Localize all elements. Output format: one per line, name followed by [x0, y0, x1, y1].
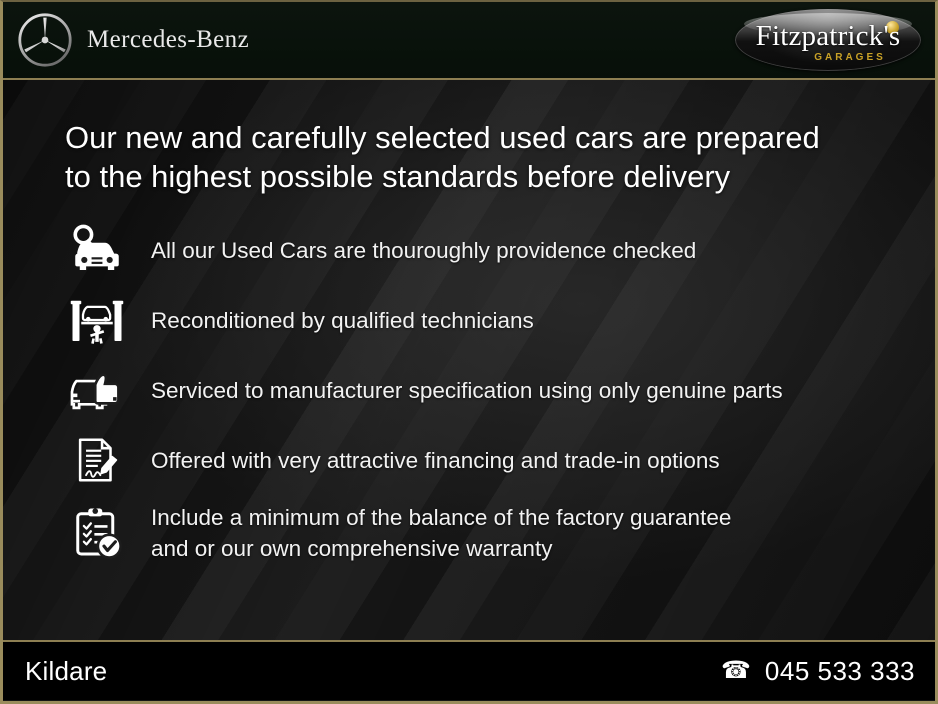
- document-pen-signature-icon: [65, 432, 129, 488]
- list-item-label: Reconditioned by qualified technicians: [151, 305, 534, 336]
- headline-line-1: Our new and carefully selected used cars…: [65, 120, 820, 155]
- phone-contact[interactable]: ☎ 045 533 333: [721, 656, 915, 687]
- list-item-label-line-1: Include a minimum of the balance of the …: [151, 505, 731, 530]
- car-thumbs-up-icon: [65, 362, 129, 418]
- list-item-label: All our Used Cars are thouroughly provid…: [151, 235, 696, 266]
- list-item-label: Serviced to manufacturer specification u…: [151, 375, 783, 406]
- car-on-lift-mechanic-icon: [65, 292, 129, 348]
- list-item: All our Used Cars are thouroughly provid…: [65, 222, 895, 278]
- list-item: Offered with very attractive financing a…: [65, 432, 895, 488]
- promo-slide: Mercedes-Benz Fitzpatrick's GARAGES Our …: [0, 0, 938, 704]
- phone-number-label[interactable]: 045 533 333: [765, 656, 915, 687]
- brand-name-label: Mercedes-Benz: [87, 26, 249, 54]
- dealer-name-label: Fitzpatrick's: [756, 22, 901, 51]
- list-item: Serviced to manufacturer specification u…: [65, 362, 895, 418]
- feature-list: All our Used Cars are thouroughly provid…: [65, 222, 895, 564]
- list-item-label-line-2: and or our own comprehensive warranty: [151, 533, 731, 564]
- mercedes-benz-star-icon: [17, 12, 73, 68]
- page-title: Our new and carefully selected used cars…: [65, 118, 875, 196]
- header-bar: Mercedes-Benz Fitzpatrick's GARAGES: [3, 2, 935, 80]
- location-label: Kildare: [25, 656, 107, 687]
- telephone-icon: ☎: [721, 659, 751, 683]
- car-inspection-magnifier-icon: [65, 222, 129, 278]
- list-item: Include a minimum of the balance of the …: [65, 502, 895, 564]
- list-item-label: Include a minimum of the balance of the …: [151, 502, 731, 564]
- main-content-panel: Our new and carefully selected used cars…: [3, 80, 935, 640]
- list-item-label: Offered with very attractive financing a…: [151, 445, 720, 476]
- fitzpatricks-garages-logo: Fitzpatrick's GARAGES: [735, 9, 921, 71]
- clipboard-checklist-approved-icon: [65, 505, 129, 561]
- headline-line-2: to the highest possible standards before…: [65, 157, 875, 196]
- list-item: Reconditioned by qualified technicians: [65, 292, 895, 348]
- footer-bar: Kildare ☎ 045 533 333: [3, 640, 935, 700]
- dealer-subtitle-label: GARAGES: [814, 52, 886, 63]
- manufacturer-brand: Mercedes-Benz: [17, 12, 249, 68]
